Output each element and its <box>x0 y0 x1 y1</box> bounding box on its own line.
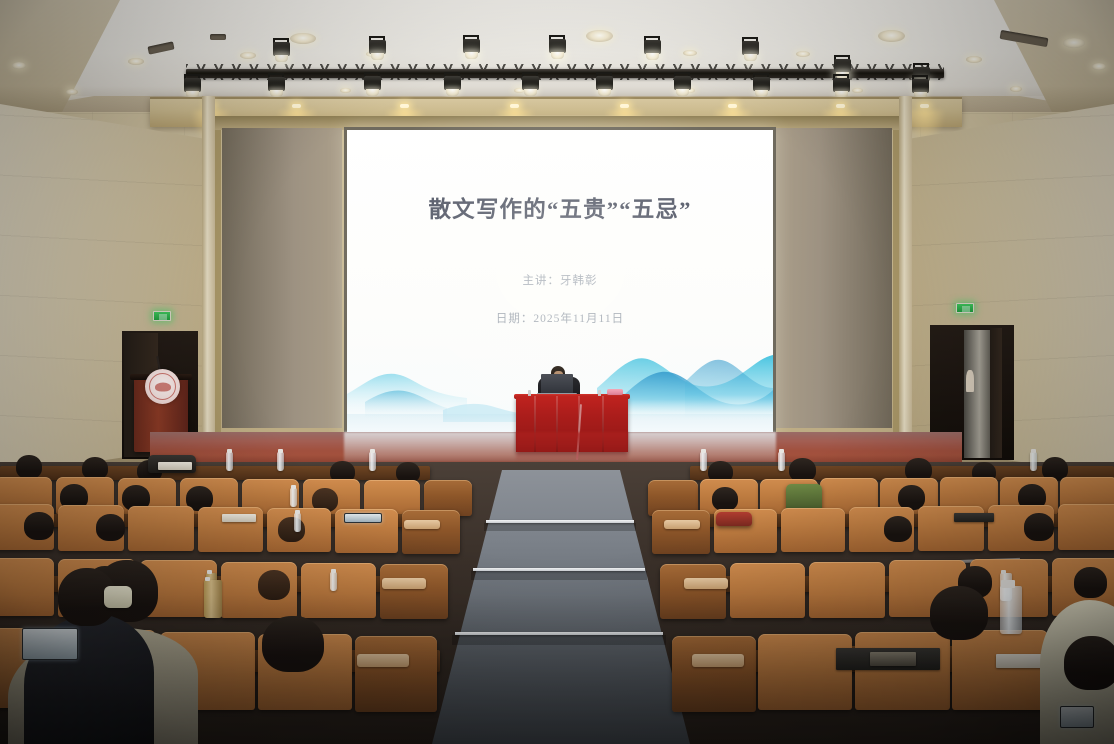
backpack-red <box>716 512 752 526</box>
valance-downlight <box>728 104 737 108</box>
door-open-right[interactable] <box>964 330 992 458</box>
thermos-bottle <box>204 580 222 618</box>
table-reflection <box>516 432 628 460</box>
lighting-truss <box>186 69 944 78</box>
recessed-downlight <box>240 52 256 59</box>
lecture-hall-photo: 散文写作的“五贵”“五忌” 主讲：牙韩彰 日期：2025年11月11日 <box>0 0 1114 744</box>
seat-armrest <box>664 520 700 529</box>
water-bottle <box>330 572 337 591</box>
attendee-head <box>884 516 912 542</box>
auditorium-seat[interactable] <box>652 510 710 554</box>
book <box>954 513 994 522</box>
seat-armrest <box>404 520 440 529</box>
seat-armrest <box>692 654 744 667</box>
attendee-head <box>1064 636 1114 690</box>
recessed-downlight <box>290 33 316 44</box>
attendee-head <box>16 455 42 479</box>
attendee-head <box>262 616 324 672</box>
auditorium-seat[interactable] <box>809 562 885 618</box>
recessed-downlight <box>12 62 26 69</box>
water-bottle <box>277 452 284 471</box>
attendee-head <box>96 514 125 541</box>
attendee-head <box>258 570 290 600</box>
attendee-head <box>1024 513 1054 541</box>
valance-downlight <box>292 104 301 108</box>
recessed-downlight <box>878 30 905 42</box>
auditorium-seat[interactable] <box>952 630 1048 710</box>
notebook <box>158 462 192 470</box>
valance-downlight <box>510 104 519 108</box>
aisle-step-riser <box>471 571 647 580</box>
seat-armrest <box>357 654 409 667</box>
auditorium-seat[interactable] <box>758 634 852 710</box>
aisle-step-riser <box>484 523 636 531</box>
exit-sign-right <box>956 303 974 313</box>
water-bottle <box>700 452 707 471</box>
desk-item-pink <box>607 389 623 395</box>
recessed-downlight <box>1092 63 1106 70</box>
recessed-downlight <box>128 58 144 65</box>
recessed-downlight <box>683 50 697 56</box>
valance-downlight <box>400 104 409 108</box>
smartphone[interactable] <box>1060 706 1094 728</box>
exit-sign-left <box>153 311 171 321</box>
water-bottle <box>369 452 376 471</box>
recessed-downlight <box>1063 38 1085 48</box>
ceiling-vent <box>210 34 226 40</box>
auditorium-seat[interactable] <box>730 563 805 618</box>
seat-armrest <box>684 578 728 589</box>
hair-clip <box>104 586 132 608</box>
attendee-head <box>1074 567 1107 598</box>
water-bottle <box>778 452 785 471</box>
tablet-device[interactable] <box>344 513 382 523</box>
water-bottle <box>290 488 297 507</box>
attendee-head <box>930 586 988 640</box>
auditorium-seat[interactable] <box>128 506 194 551</box>
institution-emblem-icon <box>145 369 180 404</box>
wall-pillar-left <box>202 96 215 480</box>
valance-downlight <box>920 104 929 108</box>
auditorium-seat[interactable] <box>660 564 726 619</box>
stage-curtain-left <box>222 128 342 428</box>
auditorium-seat[interactable] <box>672 636 756 712</box>
auditorium-seat[interactable] <box>1058 504 1114 550</box>
slide-speaker-line: 主讲：牙韩彰 <box>347 272 773 288</box>
seat-armrest <box>382 578 426 589</box>
door-leaf-right[interactable] <box>990 328 1002 458</box>
water-bottle <box>1000 586 1022 634</box>
slide-title: 散文写作的“五贵”“五忌” <box>347 192 773 224</box>
attendee-head <box>712 487 738 511</box>
auditorium-seat[interactable] <box>855 632 950 710</box>
auditorium-seat[interactable] <box>0 558 54 616</box>
tablet-device[interactable] <box>22 628 78 660</box>
auditorium-seat[interactable] <box>380 564 448 619</box>
valance-downlight <box>620 104 629 108</box>
valance-downlight <box>836 104 845 108</box>
recessed-downlight <box>586 30 613 42</box>
book-cover-art <box>870 652 916 666</box>
auditorium-seat[interactable] <box>781 508 845 552</box>
water-bottle <box>226 452 233 471</box>
aisle-step-riser <box>452 635 666 645</box>
person-in-doorway <box>966 370 974 392</box>
laptop-screen <box>541 374 573 394</box>
stage-curtain-right <box>772 128 892 428</box>
recessed-downlight <box>966 56 982 63</box>
auditorium-seat[interactable] <box>402 510 460 554</box>
water-bottle <box>294 513 301 532</box>
water-bottle <box>1030 452 1037 471</box>
auditorium-seat[interactable] <box>301 563 376 618</box>
slide-date-line: 日期：2025年11月11日 <box>347 310 773 326</box>
paper-sheet <box>222 514 256 522</box>
wall-pillar-right <box>899 96 912 480</box>
recessed-downlight <box>796 51 810 57</box>
auditorium-seat[interactable] <box>355 636 437 712</box>
attendee-head <box>24 512 54 540</box>
